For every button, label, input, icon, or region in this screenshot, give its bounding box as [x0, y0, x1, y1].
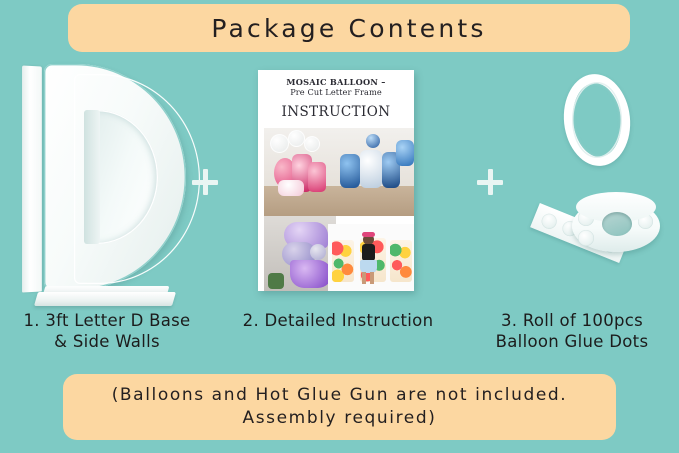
infographic-canvas: Package Contents MOSAIC BALLOON – Pre Cu… — [0, 0, 679, 453]
colorful-two-letters-photo — [328, 224, 414, 291]
header-banner: Package Contents — [68, 4, 630, 52]
caption-item-2: 2. Detailed Instruction — [218, 310, 458, 331]
product-instruction-booklet: MOSAIC BALLOON – Pre Cut Letter Frame IN… — [258, 70, 414, 291]
glue-dot — [578, 230, 594, 246]
caption-item-3-line-1: 3. Roll of 100pcs — [468, 310, 676, 331]
child-headband — [362, 232, 375, 237]
caption-item-3: 3. Roll of 100pcs Balloon Glue Dots — [468, 310, 676, 353]
child-leg — [370, 272, 374, 284]
white-balloon-cluster — [278, 180, 304, 196]
letter-d-side-wall — [22, 65, 42, 292]
glue-dot-roll-core — [602, 212, 632, 236]
booklet-header: MOSAIC BALLOON – Pre Cut Letter Frame IN… — [258, 70, 414, 120]
child-figure — [358, 234, 378, 286]
booklet-title-line-2: Pre Cut Letter Frame — [264, 87, 408, 98]
caption-item-2-line-1: 2. Detailed Instruction — [218, 310, 458, 331]
clear-balloon — [288, 130, 305, 147]
child-leg — [362, 272, 366, 284]
letter-d-base-plate — [34, 292, 176, 306]
glue-dot-roll — [572, 192, 660, 260]
caption-item-1: 1. 3ft Letter D Base & Side Walls — [4, 310, 210, 353]
plus-icon-1 — [192, 169, 218, 195]
pink-balloon-letters-photo — [264, 128, 336, 216]
caption-item-1-line-1: 1. 3ft Letter D Base — [4, 310, 210, 331]
blue-letter-shape — [396, 140, 414, 166]
booklet-title-line-3: INSTRUCTION — [264, 105, 408, 120]
purple-letter-s-photo — [264, 216, 336, 291]
plus-icon-2 — [477, 169, 503, 195]
footer-banner: (Balloons and Hot Glue Gun are not inclu… — [63, 374, 616, 440]
caption-item-3-line-2: Balloon Glue Dots — [468, 331, 676, 352]
glue-dot-ring-inner-edge — [572, 82, 622, 158]
clear-balloon — [270, 134, 289, 153]
blue-balloon-letters-photo — [336, 128, 414, 216]
blue-letter-shape — [340, 154, 360, 188]
caption-item-1-line-2: & Side Walls — [4, 331, 210, 352]
page-title: Package Contents — [211, 16, 486, 41]
product-letter-d-frame — [22, 62, 192, 306]
booklet-photo-collage — [258, 128, 414, 291]
letter-d-counter-edge — [84, 110, 100, 244]
glue-dot — [539, 212, 559, 232]
letter-o-balloons — [390, 240, 412, 282]
letter-t-balloons — [332, 240, 354, 282]
white-letter-shape — [360, 150, 382, 188]
child-top — [362, 244, 375, 261]
footer-note-text: (Balloons and Hot Glue Gun are not inclu… — [63, 384, 616, 430]
blue-balloon — [366, 134, 380, 148]
purple-s-bottom — [290, 260, 332, 288]
booklet-title-line-1: MOSAIC BALLOON – — [264, 77, 408, 87]
product-glue-dots — [512, 68, 674, 304]
photo-floor — [336, 186, 414, 216]
plant-prop — [268, 273, 284, 289]
clear-balloon — [304, 136, 320, 152]
pink-letter-shape — [308, 162, 326, 192]
silver-balloon — [310, 244, 326, 260]
